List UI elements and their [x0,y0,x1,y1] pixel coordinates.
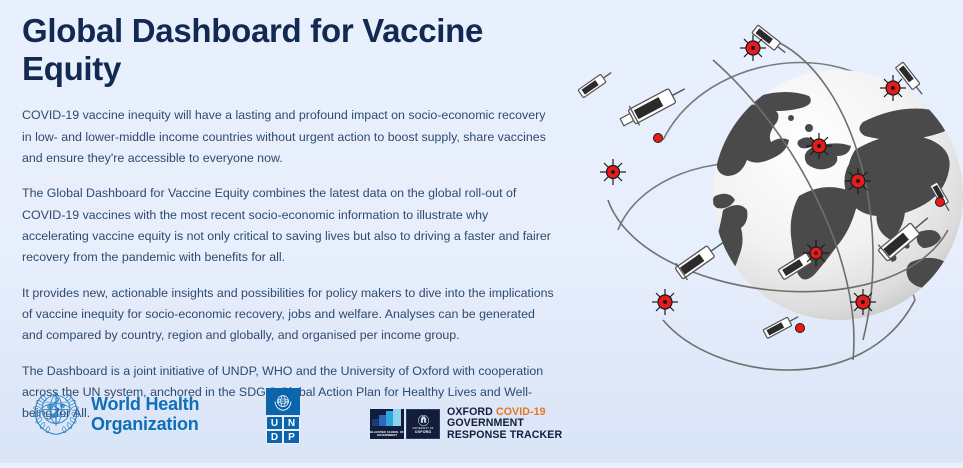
blavatnik-badge-label: BLAVATNIK SCHOOL OF GOVERNMENT [370,431,404,437]
undp-letter-p: P [283,430,300,444]
body-paragraphs: COVID-19 vaccine inequity will have a la… [22,105,557,424]
oxford-tracker-logo[interactable]: BLAVATNIK SCHOOL OF GOVERNMENT UNIVERSIT… [370,407,562,441]
virus-icon [654,134,663,143]
undp-letters: U N D P [266,416,300,444]
blavatnik-school-badge-icon: BLAVATNIK SCHOOL OF GOVERNMENT [370,409,404,439]
who-line-2: Organization [91,414,199,434]
who-logo-text: World Health Organization [91,395,199,433]
syringe-icon [617,79,690,132]
undp-letter-u: U [266,416,283,430]
who-emblem-icon [30,386,82,443]
undp-letter-d: D [266,430,283,444]
oxford-tracker-text: OXFORD COVID-19 GOVERNMENT RESPONSE TRAC… [447,407,562,441]
partner-logos: World Health Organization [22,389,562,445]
virus-icon [600,159,626,185]
virus-icon [936,198,945,207]
who-line-1: World Health [91,394,199,414]
oxford-tracker-line-1a: OXFORD [447,406,496,418]
vaccine-equity-hero: Global Dashboard for Vaccine Equity COVI… [0,0,963,463]
paragraph-2: The Global Dashboard for Vaccine Equity … [22,183,557,268]
page-title: Global Dashboard for Vaccine Equity [22,12,557,87]
oxford-crest-word: OXFORD [415,431,432,435]
paragraph-1: COVID-19 vaccine inequity will have a la… [22,105,557,169]
who-logo[interactable]: World Health Organization [30,386,199,443]
paragraph-3: It provides new, actionable insights and… [22,283,557,347]
globe-illustration [563,0,963,463]
virus-icon [652,289,678,315]
undp-letter-n: N [283,416,300,430]
oxford-tracker-line-2: GOVERNMENT [447,417,524,429]
syringe-icon [578,69,614,98]
undp-logo[interactable]: U N D P [266,388,300,444]
syringe-icon [763,313,800,339]
oxford-university-crest-icon: UNIVERSITY OF OXFORD [406,409,440,439]
virus-icon [796,324,805,333]
oxford-tracker-line-1b: COVID-19 [496,406,546,418]
oxford-tracker-line-3: RESPONSE TRACKER [447,429,562,441]
un-emblem-icon [266,388,300,415]
